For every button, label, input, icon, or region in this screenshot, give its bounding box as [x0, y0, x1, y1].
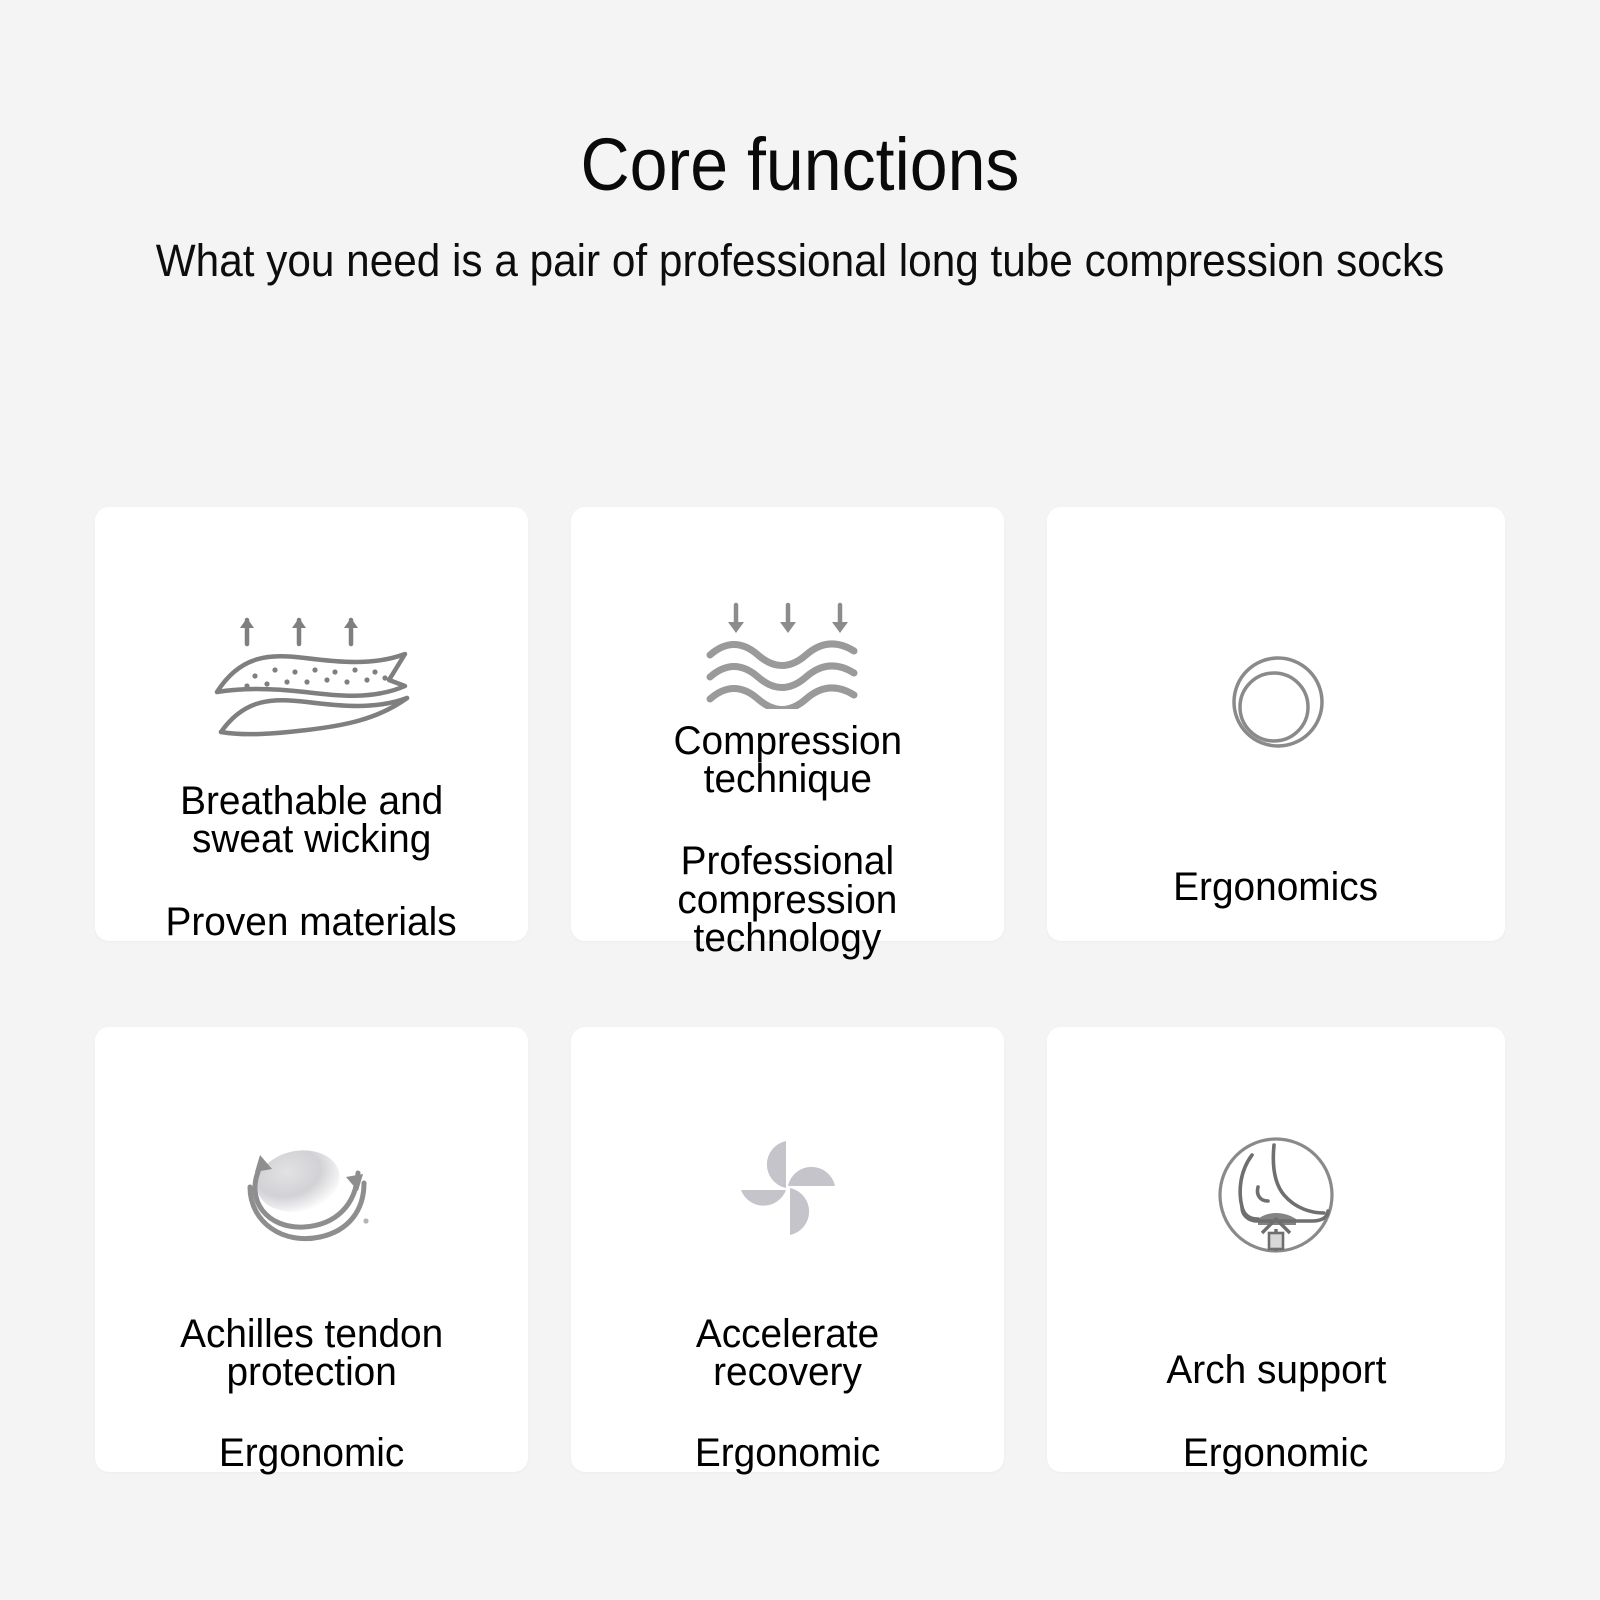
- card-description: Ergonomic: [695, 1434, 880, 1472]
- card-description: Ergonomic: [1183, 1434, 1368, 1472]
- card-title: Accelerate recovery: [696, 1316, 879, 1391]
- compression-waves-icon: [571, 507, 1004, 709]
- feature-card-ergonomics[interactable]: Ergonomics: [1047, 507, 1505, 941]
- feature-card-compression[interactable]: Compression technique Professional compr…: [571, 507, 1004, 941]
- page-header: Core functions What you need is a pair o…: [0, 0, 1600, 283]
- page-subtitle: What you need is a pair of professional …: [48, 202, 1552, 283]
- card-title: Arch support: [1166, 1352, 1386, 1390]
- card-title: Breathable and sweat wicking: [180, 783, 443, 858]
- card-description: Professional compression technology: [678, 842, 898, 957]
- card-title: Ergonomics: [1174, 869, 1379, 907]
- arch-support-foot-icon: [1047, 1027, 1505, 1310]
- feature-card-achilles[interactable]: Achilles tendon protection Ergonomic: [95, 1027, 528, 1472]
- card-description: Ergonomic: [219, 1434, 404, 1472]
- breathable-fabric-icon: [95, 507, 528, 769]
- page-title: Core functions: [64, 0, 1536, 202]
- card-title: Achilles tendon protection: [180, 1316, 443, 1391]
- concentric-circles-icon: [1047, 507, 1505, 825]
- card-title: Compression technique: [673, 723, 902, 798]
- pinwheel-icon: [571, 1027, 1004, 1286]
- feature-card-breathable[interactable]: Breathable and sweat wicking Proven mate…: [95, 507, 528, 941]
- feature-card-recovery[interactable]: Accelerate recovery Ergonomic: [571, 1027, 1004, 1472]
- feature-card-arch-support[interactable]: Arch support Ergonomic: [1047, 1027, 1505, 1472]
- card-description: Proven materials: [166, 903, 457, 941]
- feature-card-grid: Breathable and sweat wicking Proven mate…: [95, 507, 1505, 1472]
- circular-arrows-icon: [95, 1027, 528, 1286]
